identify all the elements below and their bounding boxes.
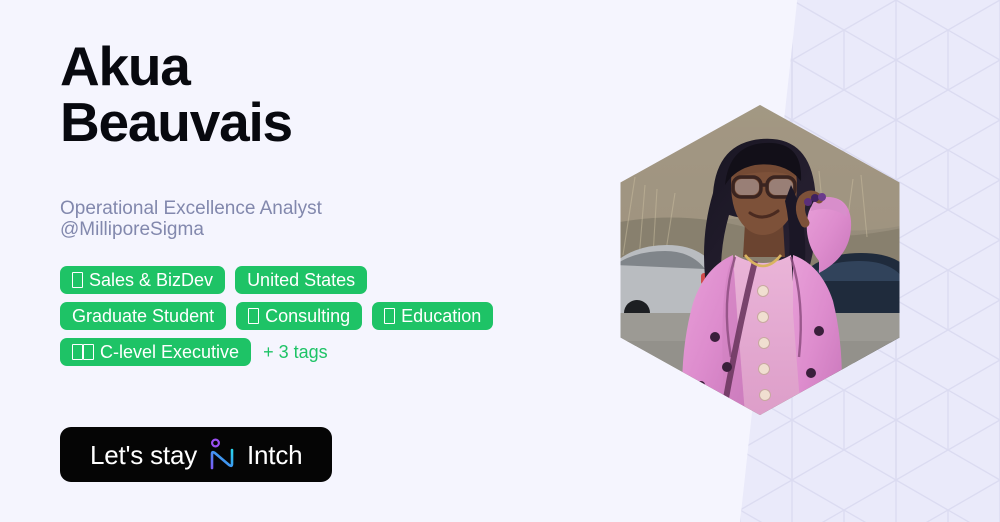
tag-chip[interactable]: C-level Executive: [60, 338, 251, 366]
tag-list: Sales & BizDevUnited StatesGraduate Stud…: [60, 266, 540, 366]
profile-headline: Operational Excellence Analyst @Millipor…: [60, 198, 490, 240]
tag-chip[interactable]: Graduate Student: [60, 302, 226, 330]
tag-chip[interactable]: United States: [235, 266, 367, 294]
more-tags-label[interactable]: + 3 tags: [263, 338, 328, 366]
tag-label: United States: [247, 266, 355, 294]
tag-label: Education: [401, 302, 481, 330]
cta-label-pre: Let's stay: [90, 442, 197, 468]
lets-stay-intch-button[interactable]: Let's stay Intch: [60, 427, 332, 482]
tag-emoji-missing-glyph-icon: [384, 308, 395, 324]
cta-label-post: Intch: [247, 442, 302, 468]
profile-content: Akua Beauvais Operational Excellence Ana…: [60, 0, 600, 522]
tag-label: C-level Executive: [100, 338, 239, 366]
page-title: Akua Beauvais: [60, 38, 520, 150]
intch-n-logo-icon: [207, 438, 237, 472]
tag-emoji-missing-glyph-icon: [72, 272, 83, 288]
tag-label: Graduate Student: [72, 302, 214, 330]
tag-emoji-missing-glyph-icon: [72, 344, 94, 360]
tag-chip[interactable]: Consulting: [236, 302, 362, 330]
tag-chip[interactable]: Education: [372, 302, 493, 330]
tag-label: Consulting: [265, 302, 350, 330]
tag-emoji-missing-glyph-icon: [248, 308, 259, 324]
tag-chip[interactable]: Sales & BizDev: [60, 266, 225, 294]
profile-card: Akua Beauvais Operational Excellence Ana…: [0, 0, 1000, 522]
tag-label: Sales & BizDev: [89, 266, 213, 294]
